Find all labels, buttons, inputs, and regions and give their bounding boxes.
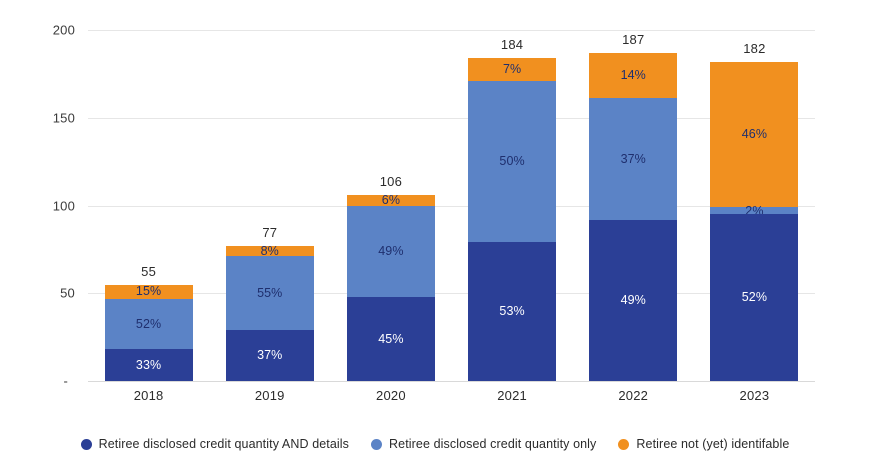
plot-area: -50100150200 5515%52%33%778%55%37%1066%4… xyxy=(88,30,815,381)
bar-segment-2020-series-1[interactable]: 45% xyxy=(347,297,435,381)
bar-group-2023[interactable]: 18246%2%52% xyxy=(710,62,798,381)
bar-segment-2021-series-3[interactable]: 7% xyxy=(468,58,556,81)
legend-item-2[interactable]: Retiree disclosed credit quantity only xyxy=(371,437,596,451)
chart-legend: Retiree disclosed credit quantity AND de… xyxy=(0,437,870,451)
bar-segment-2022-series-1[interactable]: 49% xyxy=(589,220,677,381)
stacked-bar-chart: -50100150200 5515%52%33%778%55%37%1066%4… xyxy=(0,0,870,472)
bar-segment-percent-label: 37% xyxy=(257,349,282,362)
bar-segment-percent-label: 55% xyxy=(257,287,282,300)
bar-segment-2018-series-2[interactable]: 52% xyxy=(105,299,193,350)
bar-total-label: 77 xyxy=(226,225,314,240)
y-axis-tick-label: 100 xyxy=(53,198,75,213)
bar-segment-2023-series-3[interactable]: 46% xyxy=(710,62,798,208)
legend-item-3[interactable]: Retiree not (yet) identifable xyxy=(618,437,789,451)
bar-segment-percent-label: 50% xyxy=(499,155,524,168)
legend-swatch-icon xyxy=(81,439,92,450)
bar-segment-2020-series-2[interactable]: 49% xyxy=(347,206,435,297)
x-axis-label-2022: 2022 xyxy=(589,388,677,403)
x-axis-labels: 201820192020202120222023 xyxy=(88,388,815,410)
x-axis-label-2023: 2023 xyxy=(710,388,798,403)
bar-group-2020[interactable]: 1066%49%45% xyxy=(347,195,435,381)
bar-total-label: 55 xyxy=(105,264,193,279)
bar-segment-percent-label: 45% xyxy=(378,333,403,346)
bar-group-2018[interactable]: 5515%52%33% xyxy=(105,285,193,382)
bar-segment-2018-series-1[interactable]: 33% xyxy=(105,349,193,381)
y-axis-tick-label: 200 xyxy=(53,23,75,38)
x-axis-label-2021: 2021 xyxy=(468,388,556,403)
bar-segment-2023-series-1[interactable]: 52% xyxy=(710,214,798,381)
bar-segment-2019-series-1[interactable]: 37% xyxy=(226,330,314,381)
bar-segment-percent-label: 7% xyxy=(503,63,521,76)
bar-total-label: 184 xyxy=(468,37,556,52)
bar-segment-2023-series-2[interactable]: 2% xyxy=(710,207,798,214)
y-axis-tick-label: - xyxy=(63,374,68,389)
legend-label: Retiree disclosed credit quantity AND de… xyxy=(99,437,349,451)
y-axis-tick-label: 50 xyxy=(60,286,75,301)
legend-label: Retiree not (yet) identifable xyxy=(636,437,789,451)
bar-segment-2018-series-3[interactable]: 15% xyxy=(105,285,193,299)
bar-total-label: 182 xyxy=(710,41,798,56)
bar-segment-2022-series-3[interactable]: 14% xyxy=(589,53,677,99)
bar-segment-percent-label: 52% xyxy=(742,291,767,304)
bar-segment-percent-label: 49% xyxy=(378,245,403,258)
bar-group-2022[interactable]: 18714%37%49% xyxy=(589,53,677,381)
bar-segment-percent-label: 49% xyxy=(621,294,646,307)
bar-segment-percent-label: 37% xyxy=(621,153,646,166)
bar-segment-2021-series-1[interactable]: 53% xyxy=(468,242,556,381)
y-axis-tick-label: 150 xyxy=(53,110,75,125)
bar-group-2019[interactable]: 778%55%37% xyxy=(226,246,314,381)
bar-segment-percent-label: 14% xyxy=(621,69,646,82)
bar-segment-2020-series-3[interactable]: 6% xyxy=(347,195,435,206)
bar-total-label: 187 xyxy=(589,32,677,47)
legend-label: Retiree disclosed credit quantity only xyxy=(389,437,596,451)
bar-segment-percent-label: 15% xyxy=(136,285,161,298)
bar-total-label: 106 xyxy=(347,174,435,189)
bar-segment-2021-series-2[interactable]: 50% xyxy=(468,81,556,242)
bar-segment-2019-series-3[interactable]: 8% xyxy=(226,246,314,257)
x-axis-label-2020: 2020 xyxy=(347,388,435,403)
bar-segment-2019-series-2[interactable]: 55% xyxy=(226,256,314,330)
bar-group-2021[interactable]: 1847%50%53% xyxy=(468,58,556,381)
x-axis-label-2018: 2018 xyxy=(105,388,193,403)
x-axis-label-2019: 2019 xyxy=(226,388,314,403)
bar-segment-percent-label: 46% xyxy=(742,128,767,141)
bar-segment-2022-series-2[interactable]: 37% xyxy=(589,98,677,219)
bar-segment-percent-label: 33% xyxy=(136,359,161,372)
bar-segment-percent-label: 53% xyxy=(499,305,524,318)
bar-segment-percent-label: 52% xyxy=(136,318,161,331)
x-axis-line xyxy=(88,381,815,382)
legend-swatch-icon xyxy=(618,439,629,450)
bar-series-layer: 5515%52%33%778%55%37%1066%49%45%1847%50%… xyxy=(88,30,815,381)
legend-swatch-icon xyxy=(371,439,382,450)
legend-item-1[interactable]: Retiree disclosed credit quantity AND de… xyxy=(81,437,349,451)
